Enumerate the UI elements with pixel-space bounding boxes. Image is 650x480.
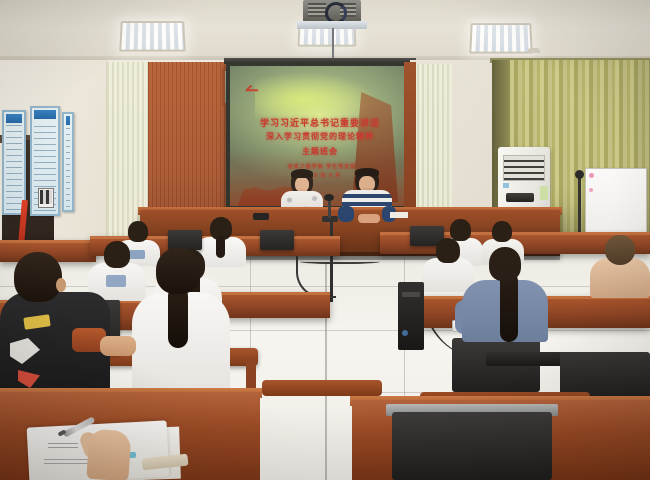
classroom-photo: 学习习近平总书记重要讲话 深入学习贯彻党的理论精神 主题班会 信息工程学院 学生… xyxy=(0,0,650,480)
slide-title-line-1: 学习习近平总书记重要讲话 xyxy=(252,116,388,129)
chair-back-front-center[interactable] xyxy=(262,380,382,396)
tower-drive-bay xyxy=(402,292,420,297)
notebook-handwriting xyxy=(48,440,78,448)
student-blue-gray-head xyxy=(489,247,521,281)
monitor-back-row xyxy=(168,230,202,250)
ponytail-front xyxy=(168,286,188,348)
student-light-hair-head xyxy=(605,235,635,265)
slide-title-line-2: 深入学习贯彻党的理论精神 xyxy=(252,131,388,142)
board-header-bar xyxy=(66,116,70,125)
whiteboard[interactable] xyxy=(585,168,647,241)
tower-power-button[interactable] xyxy=(402,330,408,336)
board-header-bar xyxy=(6,114,22,123)
ponytail xyxy=(216,236,225,258)
desk-black-device xyxy=(253,213,269,220)
board-text-lines xyxy=(6,125,22,210)
projector-vent xyxy=(308,3,326,17)
monitor-back-row xyxy=(260,230,294,250)
writing-hand xyxy=(86,429,131,480)
student-back-left-head xyxy=(128,221,148,242)
tshirt-graphic xyxy=(129,250,145,259)
air-conditioner-sticker xyxy=(503,183,509,188)
air-conditioner-display[interactable] xyxy=(506,193,534,202)
keyboard-right[interactable] xyxy=(486,352,564,366)
information-board-3 xyxy=(62,112,74,212)
smoke-detector-icon xyxy=(528,48,540,53)
recessed-grid-light-left-icon xyxy=(119,21,186,51)
student-back-right-head xyxy=(450,219,471,241)
microphone-icon xyxy=(575,170,584,179)
student-black-tshirt-head xyxy=(14,252,62,302)
student-back-far-right-head xyxy=(492,221,512,242)
recessed-grid-light-right-icon xyxy=(469,23,533,53)
slide-title-line-3: 主题班会 xyxy=(252,146,388,157)
whiteboard-mark-2 xyxy=(589,188,593,192)
long-ponytail xyxy=(500,272,518,342)
presenter-right-arm-left xyxy=(338,206,354,222)
desk-papers xyxy=(390,212,408,218)
desk-microphone-icon[interactable] xyxy=(324,194,334,201)
presenter-right-hands xyxy=(358,214,380,223)
desk-microphone-arm xyxy=(328,198,331,218)
whiteboard-mark xyxy=(589,173,594,178)
student-white-tshirt xyxy=(422,258,474,292)
monitor-front-right xyxy=(392,412,552,480)
presenter-left-fringe xyxy=(291,169,313,178)
air-conditioner-badge xyxy=(540,186,548,200)
student-ear xyxy=(56,278,66,292)
board-photo-image xyxy=(40,190,52,204)
air-conditioner-vent xyxy=(503,155,545,181)
student-arm xyxy=(100,336,136,356)
student-middle-right-head xyxy=(436,238,460,263)
board-text-lines xyxy=(66,127,70,207)
student-middle-left-head xyxy=(104,241,130,268)
notebook-handwriting-2 xyxy=(44,458,88,464)
presenter-right-fringe xyxy=(355,168,379,176)
board-header-bar xyxy=(34,110,56,119)
tshirt-graphic xyxy=(106,275,126,287)
student-front-white-head xyxy=(156,248,200,294)
